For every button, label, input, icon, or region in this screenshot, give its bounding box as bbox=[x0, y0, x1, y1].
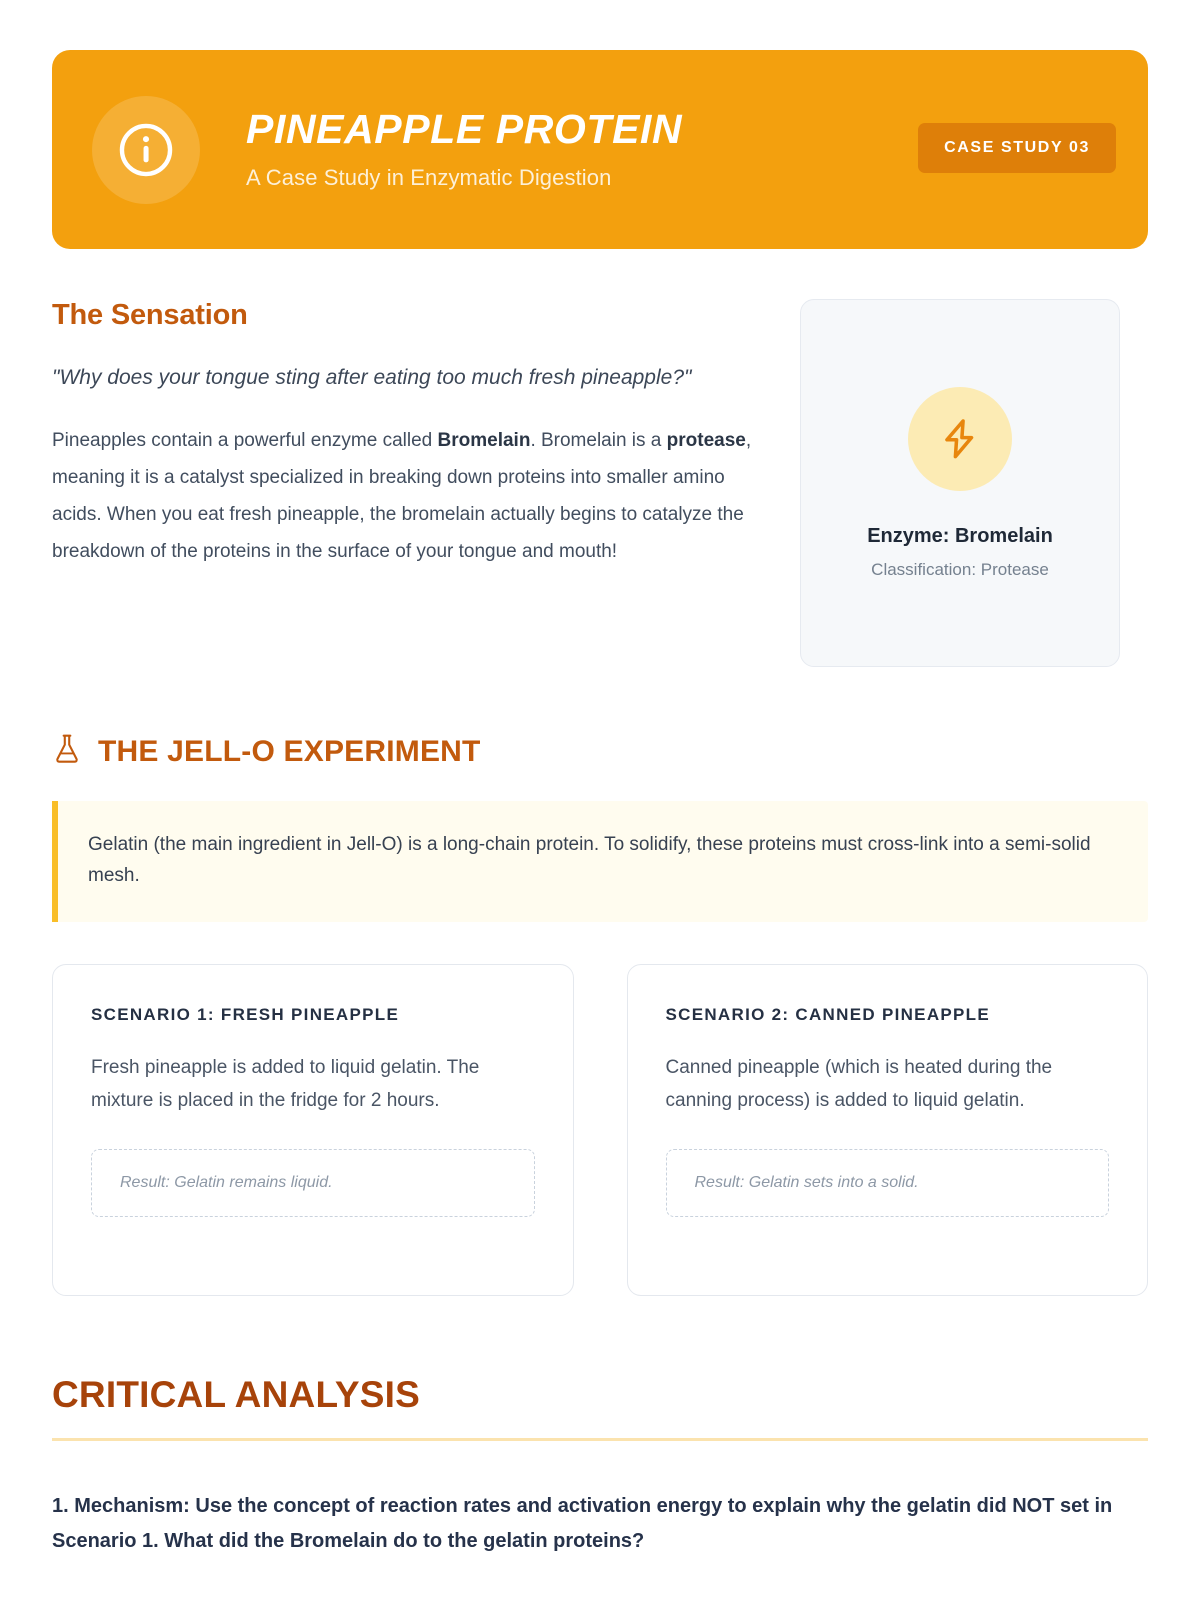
analysis-question: 1. Mechanism: Use the concept of reactio… bbox=[52, 1489, 1148, 1559]
sensation-paragraph: Pineapples contain a powerful enzyme cal… bbox=[52, 422, 752, 570]
banner-title-group: PINEAPPLE PROTEIN A Case Study in Enzyma… bbox=[246, 108, 918, 191]
scenario-result-box: Result: Gelatin remains liquid. bbox=[91, 1149, 535, 1217]
scenario-result-text: Result: Gelatin remains liquid. bbox=[120, 1174, 506, 1192]
scenario-description: Canned pineapple (which is heated during… bbox=[666, 1052, 1110, 1118]
lightning-bolt-icon bbox=[937, 416, 983, 462]
enzyme-name: Enzyme: Bromelain bbox=[867, 525, 1053, 548]
case-study-badge: CASE STUDY 03 bbox=[918, 123, 1116, 173]
analysis-divider bbox=[52, 1438, 1148, 1441]
term-bromelain: Bromelain bbox=[438, 430, 531, 451]
page-subtitle: A Case Study in Enzymatic Digestion bbox=[246, 165, 918, 191]
scenario-result-text: Result: Gelatin sets into a solid. bbox=[695, 1174, 1081, 1192]
scenario-card: SCENARIO 2: CANNED PINEAPPLE Canned pine… bbox=[627, 964, 1149, 1296]
scenario-result-box: Result: Gelatin sets into a solid. bbox=[666, 1149, 1110, 1217]
experiment-heading: THE JELL-O EXPERIMENT bbox=[98, 735, 481, 769]
term-protease: protease bbox=[667, 430, 746, 451]
scenario-card-list: SCENARIO 1: FRESH PINEAPPLE Fresh pineap… bbox=[52, 964, 1148, 1296]
enzyme-classification: Classification: Protease bbox=[871, 560, 1049, 580]
experiment-heading-row: THE JELL-O EXPERIMENT bbox=[52, 733, 1148, 770]
scenario-card: SCENARIO 1: FRESH PINEAPPLE Fresh pineap… bbox=[52, 964, 574, 1296]
paragraph-part-2: . Bromelain is a bbox=[530, 430, 666, 451]
sensation-section: The Sensation "Why does your tongue stin… bbox=[52, 299, 1148, 667]
paragraph-part-1: Pineapples contain a powerful enzyme cal… bbox=[52, 430, 438, 451]
scenario-title: SCENARIO 2: CANNED PINEAPPLE bbox=[666, 1005, 1110, 1025]
sensation-heading: The Sensation bbox=[52, 299, 752, 332]
experiment-callout-text: Gelatin (the main ingredient in Jell-O) … bbox=[88, 829, 1116, 892]
case-study-page: PINEAPPLE PROTEIN A Case Study in Enzyma… bbox=[0, 0, 1200, 1600]
experiment-callout: Gelatin (the main ingredient in Jell-O) … bbox=[52, 801, 1148, 922]
enzyme-info-card: Enzyme: Bromelain Classification: Protea… bbox=[800, 299, 1120, 667]
page-header-banner: PINEAPPLE PROTEIN A Case Study in Enzyma… bbox=[52, 50, 1148, 249]
info-circle-icon bbox=[92, 96, 200, 204]
page-title: PINEAPPLE PROTEIN bbox=[246, 108, 918, 151]
flask-icon bbox=[52, 733, 82, 770]
enzyme-icon-circle bbox=[908, 387, 1012, 491]
scenario-description: Fresh pineapple is added to liquid gelat… bbox=[91, 1052, 535, 1118]
scenario-title: SCENARIO 1: FRESH PINEAPPLE bbox=[91, 1005, 535, 1025]
analysis-heading: CRITICAL ANALYSIS bbox=[52, 1374, 1148, 1416]
sensation-pull-quote: "Why does your tongue sting after eating… bbox=[52, 360, 722, 396]
sensation-text-column: The Sensation "Why does your tongue stin… bbox=[52, 299, 752, 570]
